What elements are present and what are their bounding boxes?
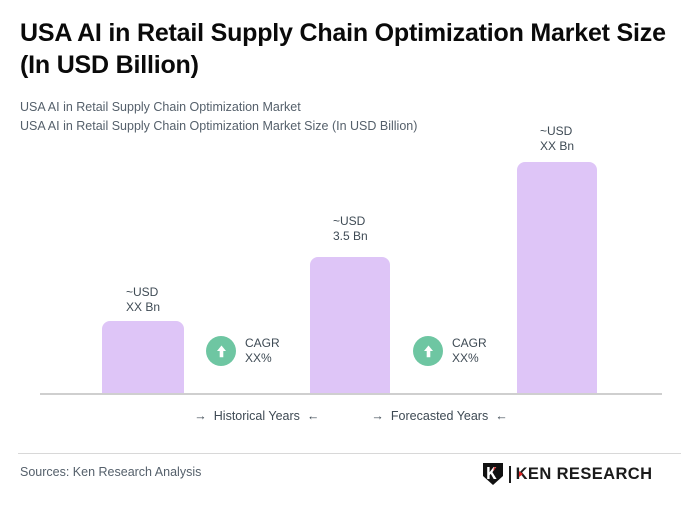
bar-value-amount-1: XX Bn (126, 300, 160, 315)
period-axis-labels: → Historical Years ← → Forecasted Years … (40, 409, 662, 423)
bar-2[interactable] (310, 257, 390, 393)
arrow-right-icon: → (194, 410, 207, 423)
footer-divider (18, 453, 681, 454)
bar-value-label-1: ~USD XX Bn (126, 285, 160, 314)
period-forecasted-label: Forecasted Years (391, 409, 488, 423)
bar-value-label-3: ~USD XX Bn (540, 124, 574, 153)
bar-chart: ~USD XX Bn CAGR XX% ~USD 3.5 Bn CAGR XX% (0, 0, 700, 400)
arrow-left-icon: ← (307, 410, 320, 423)
bar-value-amount-3: XX Bn (540, 139, 574, 154)
logo-text: KEN RESEARCH (516, 466, 653, 483)
period-historical: → Historical Years ← (194, 409, 319, 423)
arrow-up-icon (206, 336, 236, 366)
cagr-text-1: CAGR XX% (245, 336, 280, 365)
cagr-badge-2[interactable]: CAGR XX% (413, 336, 487, 366)
bar-1[interactable] (102, 321, 184, 393)
chart-baseline-axis (40, 393, 662, 395)
bar-value-label-2: ~USD 3.5 Bn (333, 214, 368, 243)
logo-accent-triangle-icon (519, 471, 523, 477)
cagr-text-2: CAGR XX% (452, 336, 487, 365)
bar-3[interactable] (517, 162, 597, 393)
ken-research-logo: KEN RESEARCH (482, 462, 652, 486)
bar-value-currency-2: ~USD (333, 214, 368, 229)
ken-research-shield-icon (482, 462, 504, 486)
cagr-badge-1[interactable]: CAGR XX% (206, 336, 280, 366)
cagr-label-1: CAGR (245, 336, 280, 351)
arrow-up-icon (413, 336, 443, 366)
bar-value-currency-3: ~USD (540, 124, 574, 139)
arrow-left-icon: ← (495, 410, 508, 423)
cagr-label-2: CAGR (452, 336, 487, 351)
bar-value-amount-2: 3.5 Bn (333, 229, 368, 244)
sources-text: Sources: Ken Research Analysis (20, 465, 201, 479)
cagr-value-2: XX% (452, 351, 487, 366)
bar-value-currency-1: ~USD (126, 285, 160, 300)
logo-divider (509, 466, 511, 483)
cagr-value-1: XX% (245, 351, 280, 366)
arrow-right-icon: → (371, 410, 384, 423)
period-historical-label: Historical Years (214, 409, 300, 423)
period-forecasted: → Forecasted Years ← (371, 409, 507, 423)
